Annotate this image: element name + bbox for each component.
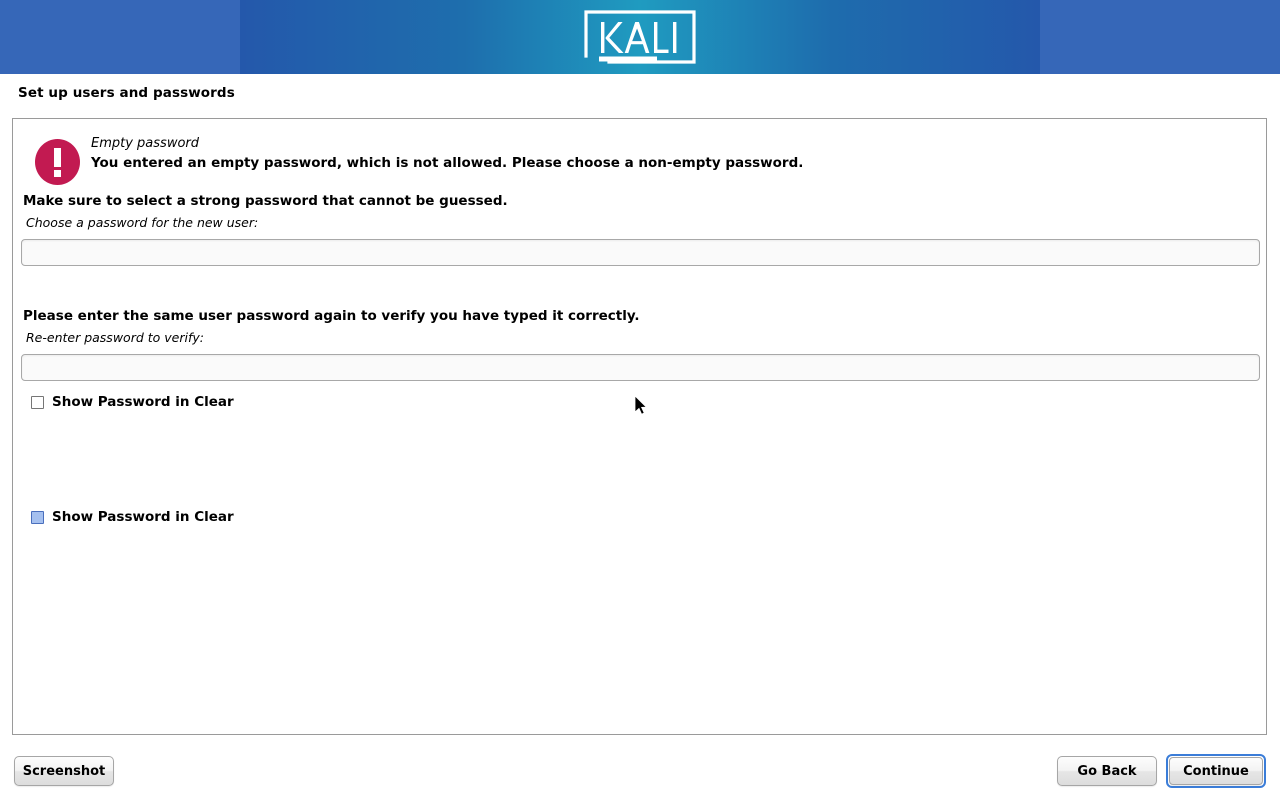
- error-heading: Empty password: [91, 136, 199, 151]
- verify-password-hint: Please enter the same user password agai…: [23, 308, 640, 324]
- screenshot-button[interactable]: Screenshot: [14, 756, 114, 786]
- password-input[interactable]: [21, 239, 1260, 266]
- verify-field-label: Re-enter password to verify:: [26, 330, 204, 345]
- password-field-label: Choose a password for the new user:: [26, 215, 258, 230]
- error-message-block: Empty password You entered an empty pass…: [23, 129, 1253, 189]
- error-exclamation-icon: [35, 139, 80, 185]
- show-password-row-2[interactable]: Show Password in Clear: [31, 508, 234, 526]
- page-title: Set up users and passwords: [18, 85, 235, 101]
- kali-logo-icon: [583, 9, 697, 65]
- verify-password-input[interactable]: [21, 354, 1260, 381]
- show-password-checkbox-1[interactable]: [31, 396, 44, 409]
- continue-button-focus-ring: Continue: [1166, 754, 1266, 788]
- error-message-text: You entered an empty password, which is …: [91, 155, 803, 171]
- go-back-button[interactable]: Go Back: [1057, 756, 1157, 786]
- installer-window: Set up users and passwords Empty passwor…: [0, 0, 1280, 800]
- show-password-checkbox-2[interactable]: [31, 511, 44, 524]
- show-password-row-1[interactable]: Show Password in Clear: [31, 393, 234, 411]
- show-password-label-1: Show Password in Clear: [52, 394, 234, 410]
- strong-password-hint: Make sure to select a strong password th…: [23, 193, 508, 209]
- continue-button[interactable]: Continue: [1169, 757, 1263, 785]
- kali-banner: [0, 0, 1280, 74]
- main-content-panel: Empty password You entered an empty pass…: [12, 118, 1267, 735]
- show-password-label-2: Show Password in Clear: [52, 509, 234, 525]
